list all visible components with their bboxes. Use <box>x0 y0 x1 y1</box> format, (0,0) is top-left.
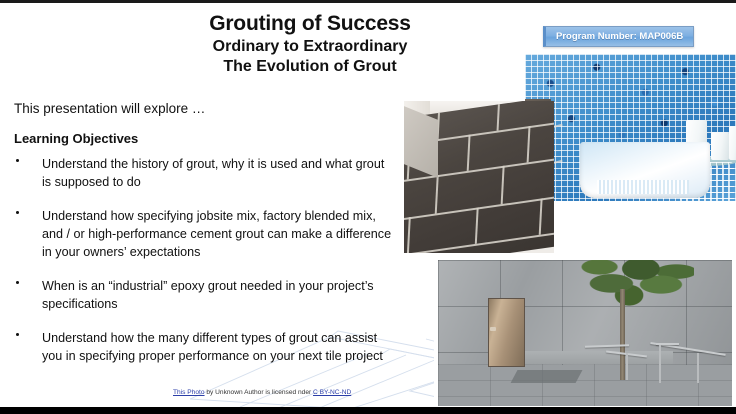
entry-mat <box>511 370 583 383</box>
this-photo-link[interactable]: This Photo <box>173 389 205 396</box>
door-handle-icon <box>490 327 496 331</box>
list-item: When is an “industrial” epoxy grout need… <box>14 277 394 313</box>
grout-line <box>475 207 478 244</box>
handrail-post <box>659 345 661 383</box>
list-item: Understand the history of grout, why it … <box>14 155 394 191</box>
learning-objectives-list: Understand the history of grout, why it … <box>14 155 394 381</box>
candle-medium <box>711 132 729 160</box>
page-subtitle-1: Ordinary to Extraordinary <box>150 37 470 57</box>
page-subtitle-2: The Evolution of Grout <box>150 57 470 77</box>
tree-trunk <box>620 289 625 380</box>
slide-title-block: Grouting of Success Ordinary to Extraord… <box>150 12 470 77</box>
facade-scene <box>438 260 732 406</box>
presentation-slide: Grouting of Success Ordinary to Extraord… <box>0 3 736 407</box>
program-number-label: Program Number: MAP006B <box>556 31 683 42</box>
towel-fringe <box>597 180 689 194</box>
list-item-label: Understand how the many different types … <box>42 331 383 363</box>
blue-mosaic-tile-bathroom-photo <box>525 54 736 201</box>
grout-line <box>404 231 554 253</box>
bullet-dot-icon <box>16 281 19 284</box>
intro-text: This presentation will explore … <box>14 101 205 116</box>
list-item: Understand how the many different types … <box>14 329 394 365</box>
bronze-door <box>488 298 525 367</box>
handrail-post <box>626 353 628 379</box>
candle-small <box>729 126 736 160</box>
handrail-post <box>697 353 699 382</box>
bullet-dot-icon <box>16 159 19 162</box>
grout-line <box>467 134 470 171</box>
tree-canopy <box>576 260 694 307</box>
list-item: Understand how specifying jobsite mix, f… <box>14 207 394 261</box>
license-link[interactable]: C BY-NC-ND <box>313 389 351 396</box>
letterbox-bottom <box>0 407 736 414</box>
bullet-dot-icon <box>16 211 19 214</box>
gray-stone-facade-photo <box>434 256 736 407</box>
list-item-label: Understand the history of grout, why it … <box>42 157 384 189</box>
grout-line <box>404 194 554 221</box>
program-number-badge: Program Number: MAP006B <box>543 26 694 47</box>
list-item-label: When is an “industrial” epoxy grout need… <box>42 279 374 311</box>
list-item-label: Understand how specifying jobsite mix, f… <box>42 209 391 259</box>
grout-line <box>527 126 530 163</box>
grout-line <box>539 198 542 235</box>
learning-objectives-heading: Learning Objectives <box>14 131 138 146</box>
bullet-dot-icon <box>16 333 19 336</box>
attribution-middle-text: by Unknown Author is licensed nder <box>205 389 314 396</box>
grout-line <box>497 104 500 130</box>
grout-line <box>407 217 410 253</box>
grout-line <box>435 175 439 214</box>
dark-gray-floor-tile-photo <box>404 101 554 253</box>
grout-line <box>501 166 505 205</box>
step-ledge <box>520 351 673 364</box>
paved-ground <box>438 364 732 406</box>
page-title: Grouting of Success <box>150 12 470 35</box>
floor-scene <box>404 101 554 253</box>
photo-attribution: This Photo by Unknown Author is licensed… <box>173 389 351 396</box>
